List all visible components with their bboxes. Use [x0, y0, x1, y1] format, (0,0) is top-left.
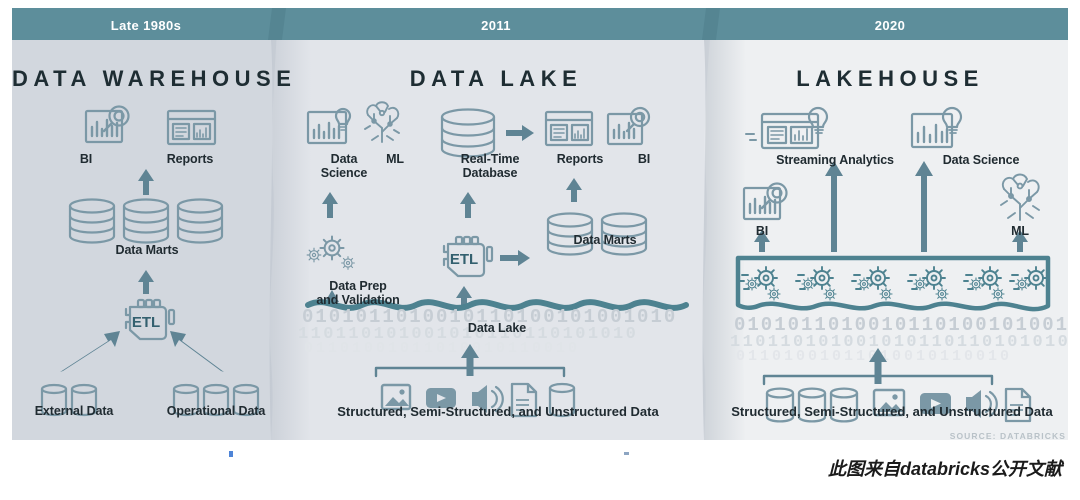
etl-engine-icon: ETL [126, 300, 174, 339]
label-ml-lh: ML [996, 224, 1044, 238]
arrow-operational-to-etl [170, 331, 224, 372]
label-operational-data: Operational Data [136, 404, 296, 418]
arrow-db-to-reports [506, 125, 534, 141]
label-external-data: External Data [4, 404, 144, 418]
figure-caption: 此图来自databricks公开文献 [0, 455, 1080, 481]
label-reports-lake: Reports [542, 152, 618, 166]
chart-bulb-icon-data-science [308, 109, 350, 143]
dashboard-bulb-icon-streaming [746, 108, 827, 148]
gears-icon-data-prep [307, 236, 354, 269]
label-bi-lh: BI [738, 224, 786, 238]
arrow-etl-to-marts [138, 270, 154, 294]
brain-circuit-icon-lh [1001, 175, 1039, 221]
label-data-prep-validation: Data Prep and Validation [278, 279, 438, 307]
database-stack-icon-data-marts [70, 200, 222, 243]
label-bi-warehouse: BI [46, 152, 126, 166]
arrow-engine-to-datascience [915, 161, 933, 252]
svg-text:ETL: ETL [450, 251, 478, 268]
gear-band-icon-lakehouse [738, 258, 1048, 309]
arrow-marts-to-reports [566, 178, 582, 202]
baseline-label-lake: Structured, Semi-Structured, and Unstruc… [288, 404, 708, 419]
lakehouse-evolution-figure: Late 1980s 2011 2020 DATA WAREHOUSE DATA… [0, 0, 1080, 447]
reports-dashboard-icon-lake [546, 112, 592, 145]
database-stack-icon-realtime [442, 110, 494, 157]
panel-2-graphics: ETL [290, 100, 710, 440]
baseline-label-lh: Structured, Semi-Structured, and Unstruc… [716, 404, 1068, 419]
source-note: SOURCE: DATABRICKS [950, 431, 1066, 441]
caption-suffix: 公开文献 [990, 459, 1062, 479]
label-ml-lake: ML [352, 152, 438, 166]
label-data-lake: Data Lake [432, 321, 562, 335]
panel-3-graphics: 0101011010010110100101001010 11011010100… [724, 100, 1068, 440]
label-data-science-lh: Data Science [906, 153, 1056, 167]
bi-chart-magnifier-icon-lh [744, 184, 787, 220]
label-data-marts-lake: Data Marts [540, 233, 670, 247]
brain-circuit-icon-ml [365, 102, 399, 142]
arrow-marts-to-bi [138, 169, 154, 195]
arrow-etl-to-realtimedb [460, 192, 476, 218]
bi-chart-magnifier-icon-lake [608, 108, 649, 144]
era-label-late-1980s: Late 1980s [12, 18, 280, 33]
era-label-2020: 2020 [712, 18, 1068, 33]
panel-title-lakehouse: LAKEHOUSE [712, 66, 1068, 92]
label-reports-warehouse: Reports [140, 152, 240, 166]
caption-brand: databricks [900, 459, 990, 479]
arrow-external-to-etl [60, 331, 120, 372]
caption-prefix: 此图来自 [828, 459, 900, 479]
bi-chart-magnifier-icon [86, 107, 129, 143]
arrow-prep-to-datascience [322, 192, 338, 218]
arrow-etl-to-marts-lake [500, 250, 530, 266]
panel-1-graphics: ETL [12, 100, 280, 440]
label-real-time-database: Real-Time Database [430, 152, 550, 180]
binary-row-3: 01101001011010010110010 [304, 340, 580, 357]
label-bi-lake: BI [616, 152, 672, 166]
panel-title-data-lake: DATA LAKE [278, 66, 714, 92]
svg-text:ETL: ETL [132, 314, 160, 331]
label-streaming-analytics: Streaming Analytics [740, 153, 930, 167]
era-label-2011: 2011 [278, 18, 714, 33]
chart-bulb-icon-datascience-lh [912, 108, 961, 147]
label-data-marts-warehouse: Data Marts [72, 243, 222, 257]
etl-engine-icon-lake: ETL [444, 237, 492, 276]
panel-title-data-warehouse: DATA WAREHOUSE [12, 66, 280, 92]
diagram-root: Late 1980s 2011 2020 DATA WAREHOUSE DATA… [0, 0, 1080, 500]
arrow-engine-to-streaming [825, 161, 843, 252]
reports-dashboard-icon [168, 111, 215, 144]
